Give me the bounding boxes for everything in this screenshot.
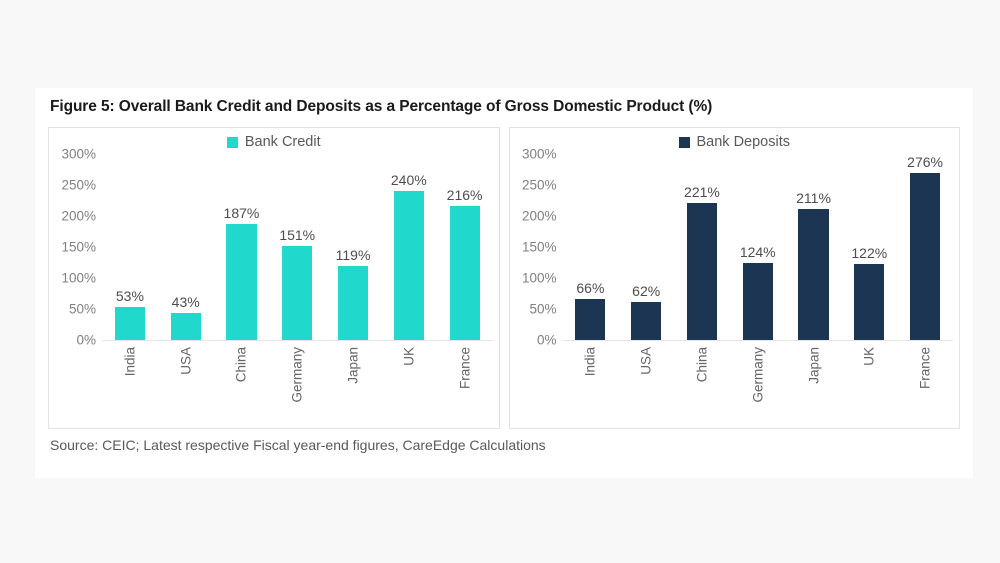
x-axis-tick: USA — [618, 342, 674, 428]
x-axis-tick-label: India — [122, 347, 137, 376]
bar-group-bank-deposits: 66%62%221%124%211%122%276% — [563, 154, 954, 340]
x-axis-tick: France — [437, 342, 493, 428]
y-axis-tick-label: 250% — [61, 178, 96, 193]
bar-rect[interactable] — [115, 307, 145, 340]
bar-item[interactable]: 221% — [674, 154, 730, 340]
x-axis-tick: China — [674, 342, 730, 428]
legend-bank-credit: Bank Credit — [49, 134, 499, 150]
y-axis-bank-credit: 0%50%100%150%200%250%300% — [49, 154, 99, 340]
bar-rect[interactable] — [854, 264, 884, 340]
x-axis-tick: India — [563, 342, 619, 428]
bar-rect[interactable] — [743, 263, 773, 340]
x-axis-tick: China — [214, 342, 270, 428]
bar-rect[interactable] — [910, 173, 940, 340]
bar-rect[interactable] — [282, 246, 312, 340]
bar-rect[interactable] — [450, 206, 480, 340]
bar-value-label: 119% — [336, 247, 371, 263]
bar-value-label: 216% — [447, 187, 483, 203]
bar-item[interactable]: 62% — [618, 154, 674, 340]
bar-item[interactable]: 276% — [897, 154, 953, 340]
y-axis-tick-label: 300% — [61, 147, 96, 162]
y-axis-tick-label: 50% — [529, 302, 556, 317]
x-axis-tick-label: China — [694, 347, 709, 382]
x-axis-baseline — [563, 340, 954, 341]
x-axis-tick: France — [897, 342, 953, 428]
bar-value-label: 187% — [224, 205, 260, 221]
legend-swatch-icon — [679, 137, 690, 148]
x-axis-tick-label: UK — [862, 347, 877, 366]
x-axis-tick-label: France — [918, 347, 933, 389]
bar-item[interactable]: 119% — [325, 154, 381, 340]
source-note: Source: CEIC; Latest respective Fiscal y… — [50, 437, 546, 453]
x-axis-tick-label: Japan — [346, 347, 361, 384]
bar-rect[interactable] — [631, 302, 661, 340]
x-axis-tick-label: China — [234, 347, 249, 382]
bar-value-label: 66% — [576, 280, 604, 296]
x-axis-tick: USA — [158, 342, 214, 428]
y-axis-tick-label: 100% — [522, 271, 557, 286]
bar-value-label: 211% — [796, 190, 831, 206]
y-axis-tick-label: 150% — [61, 240, 96, 255]
bar-item[interactable]: 43% — [158, 154, 214, 340]
bar-rect[interactable] — [226, 224, 256, 340]
x-axis-tick-label: UK — [401, 347, 416, 366]
bar-rect[interactable] — [798, 209, 828, 340]
figure-title: Figure 5: Overall Bank Credit and Deposi… — [50, 98, 712, 116]
bar-value-label: 124% — [740, 244, 776, 260]
y-axis-tick-label: 300% — [522, 147, 557, 162]
y-axis-tick-label: 0% — [76, 333, 96, 348]
x-axis-category-labels-bank-credit: IndiaUSAChinaGermanyJapanUKFrance — [102, 342, 493, 428]
bar-value-label: 53% — [116, 288, 144, 304]
bar-value-label: 240% — [391, 172, 427, 188]
x-axis-tick-label: Japan — [806, 347, 821, 384]
x-axis-tick-label: Germany — [750, 347, 765, 403]
x-axis-tick-label: USA — [178, 347, 193, 375]
bar-item[interactable]: 124% — [730, 154, 786, 340]
bar-item[interactable]: 216% — [437, 154, 493, 340]
legend-swatch-icon — [227, 137, 238, 148]
bar-rect[interactable] — [575, 299, 605, 340]
chart-panel-bank-deposits: Bank Deposits 0%50%100%150%200%250%300% … — [509, 127, 961, 429]
bar-value-label: 122% — [851, 245, 887, 261]
chart-panel-bank-credit: Bank Credit 0%50%100%150%200%250%300% 53… — [48, 127, 500, 429]
bar-rect[interactable] — [394, 191, 424, 340]
bar-item[interactable]: 187% — [214, 154, 270, 340]
bar-value-label: 276% — [907, 154, 943, 170]
x-axis-tick: Japan — [325, 342, 381, 428]
x-axis-tick-label: France — [457, 347, 472, 389]
bar-item[interactable]: 240% — [381, 154, 437, 340]
y-axis-tick-label: 0% — [537, 333, 557, 348]
figure-card: Figure 5: Overall Bank Credit and Deposi… — [35, 88, 973, 478]
x-axis-tick: UK — [841, 342, 897, 428]
x-axis-tick: UK — [381, 342, 437, 428]
bar-value-label: 62% — [632, 283, 660, 299]
y-axis-tick-label: 200% — [522, 209, 557, 224]
bar-value-label: 221% — [684, 184, 720, 200]
x-axis-baseline — [102, 340, 493, 341]
bar-group-bank-credit: 53%43%187%151%119%240%216% — [102, 154, 493, 340]
y-axis-tick-label: 100% — [61, 271, 96, 286]
plot-area-bank-deposits: 66%62%221%124%211%122%276% — [563, 154, 954, 340]
x-axis-tick-label: India — [583, 347, 598, 376]
y-axis-tick-label: 200% — [61, 209, 96, 224]
bar-value-label: 151% — [279, 227, 315, 243]
legend-label: Bank Deposits — [697, 134, 791, 150]
x-axis-tick: Germany — [269, 342, 325, 428]
legend-bank-deposits: Bank Deposits — [510, 134, 960, 150]
x-axis-category-labels-bank-deposits: IndiaUSAChinaGermanyJapanUKFrance — [563, 342, 954, 428]
bar-rect[interactable] — [338, 266, 368, 340]
bar-item[interactable]: 122% — [841, 154, 897, 340]
bar-item[interactable]: 53% — [102, 154, 158, 340]
y-axis-tick-label: 50% — [69, 302, 96, 317]
y-axis-bank-deposits: 0%50%100%150%200%250%300% — [510, 154, 560, 340]
y-axis-tick-label: 150% — [522, 240, 557, 255]
bar-rect[interactable] — [171, 313, 201, 340]
bar-value-label: 43% — [172, 294, 200, 310]
x-axis-tick: India — [102, 342, 158, 428]
x-axis-tick-label: Germany — [290, 347, 305, 403]
y-axis-tick-label: 250% — [522, 178, 557, 193]
bar-item[interactable]: 211% — [786, 154, 842, 340]
x-axis-tick: Japan — [786, 342, 842, 428]
bar-item[interactable]: 66% — [563, 154, 619, 340]
plot-area-bank-credit: 53%43%187%151%119%240%216% — [102, 154, 493, 340]
chart-panels-container: Bank Credit 0%50%100%150%200%250%300% 53… — [48, 127, 960, 429]
legend-label: Bank Credit — [245, 134, 321, 150]
bar-rect[interactable] — [687, 203, 717, 340]
x-axis-tick-label: USA — [639, 347, 654, 375]
bar-item[interactable]: 151% — [269, 154, 325, 340]
x-axis-tick: Germany — [730, 342, 786, 428]
